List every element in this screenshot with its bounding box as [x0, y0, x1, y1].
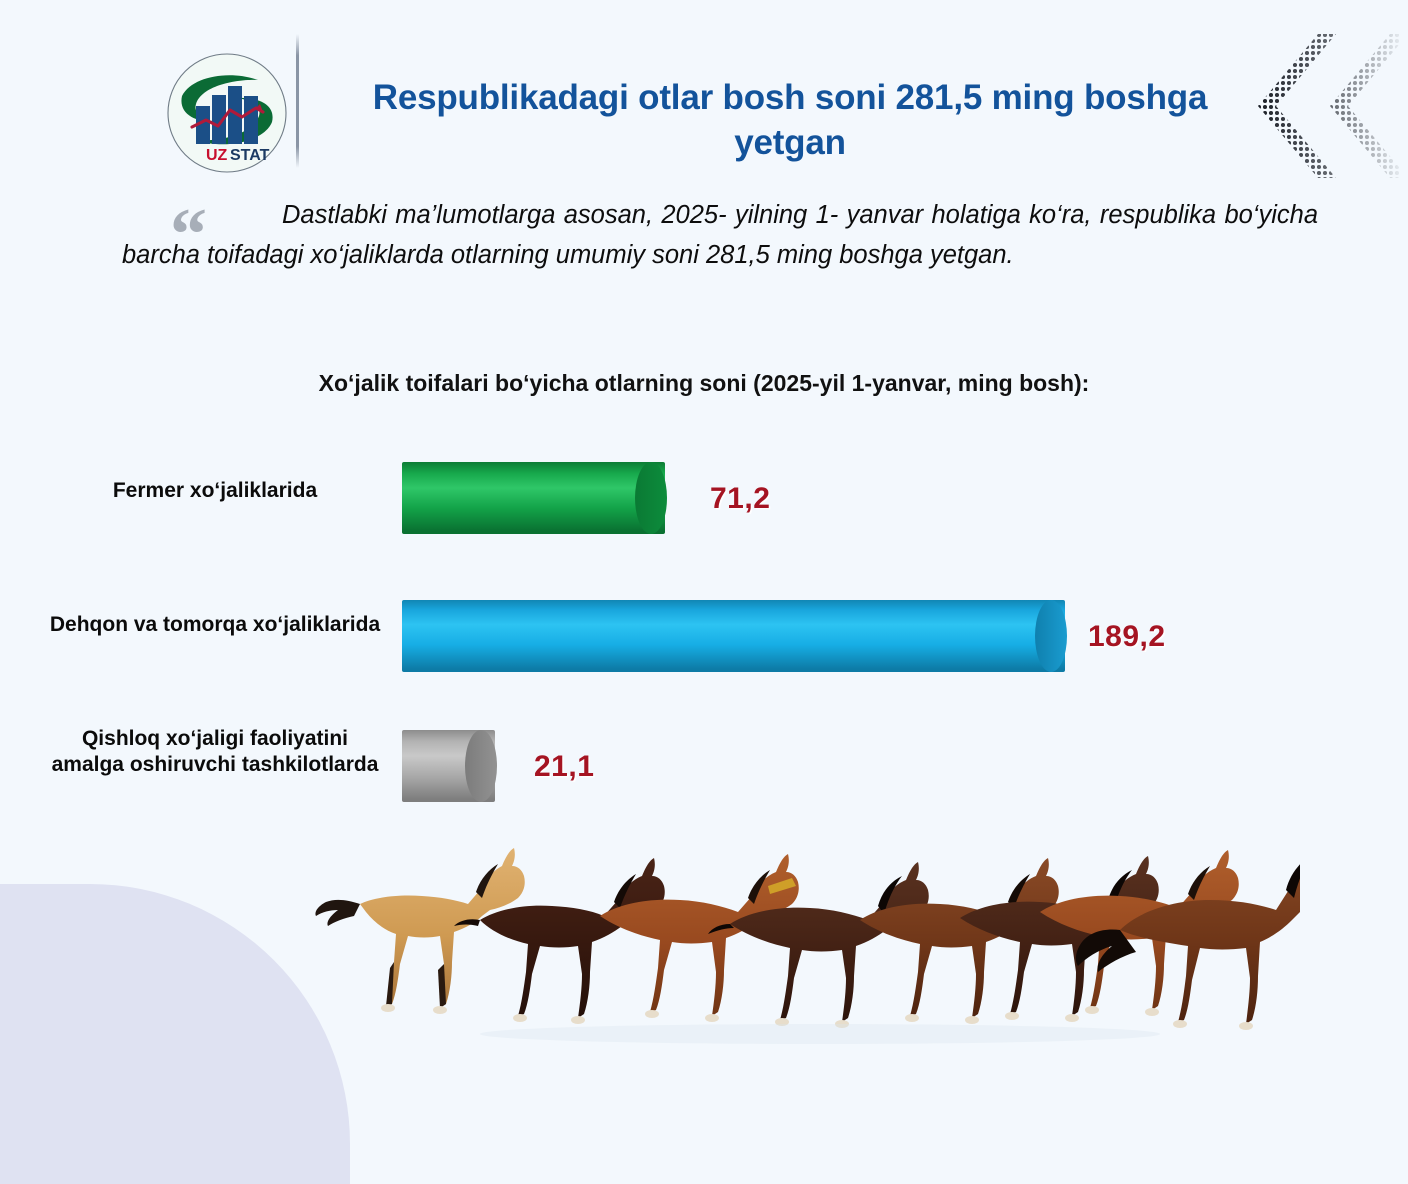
bar-track [402, 730, 495, 802]
bar-cylinder [402, 730, 495, 802]
galloping-horses-image [300, 812, 1300, 1056]
horizontal-bar-chart: Fermer xo‘jaliklarida 71,2 Dehqon va tom… [0, 452, 1408, 832]
bar-end-cap [635, 462, 667, 534]
bar-body [402, 600, 1065, 672]
header: UZ STAT Respublikadagi otlar bosh soni 2… [0, 0, 1408, 190]
page-title: Respublikadagi otlar bosh soni 281,5 min… [340, 76, 1240, 166]
bar-track [402, 600, 1065, 672]
bar-end-cap [465, 730, 497, 802]
bar-value-label: 189,2 [1088, 620, 1166, 654]
bar-body [402, 462, 665, 534]
bar-end-cap [1035, 600, 1067, 672]
bar-value-label: 21,1 [534, 750, 594, 784]
category-label: Dehqon va tomorqa xo‘jaliklarida [40, 612, 390, 638]
logo-text-stat: STAT [230, 147, 270, 164]
bar-value-label: 71,2 [710, 482, 770, 516]
chart-title: Xo‘jalik toifalari bo‘yicha otlarning so… [0, 370, 1408, 397]
quote-block: “ Dastlabki ma’lumotlarga asosan, 2025- … [122, 196, 1318, 275]
header-divider [296, 34, 299, 168]
quote-mark-icon: “ [170, 198, 204, 272]
chart-row: Fermer xo‘jaliklarida 71,2 [0, 462, 1408, 542]
decorative-blob-bottom-left [0, 884, 350, 1184]
category-label: Qishloq xo‘jaligi faoliyatini amalga osh… [50, 726, 380, 779]
quote-text: Dastlabki ma’lumotlarga asosan, 2025- yi… [122, 196, 1318, 275]
chart-row: Dehqon va tomorqa xo‘jaliklarida 189,2 [0, 600, 1408, 680]
chart-row: Qishloq xo‘jaligi faoliyatini amalga osh… [0, 730, 1408, 810]
horse [315, 848, 524, 1014]
horse [1076, 838, 1300, 1030]
bar-track [402, 462, 665, 534]
bar-cylinder [402, 462, 665, 534]
category-label: Fermer xo‘jaliklarida [40, 478, 390, 504]
logo-text-uz: UZ [206, 147, 228, 164]
bar-cylinder [402, 600, 1065, 672]
horse [708, 862, 929, 1028]
uzstat-logo-icon: UZ STAT [166, 52, 288, 174]
